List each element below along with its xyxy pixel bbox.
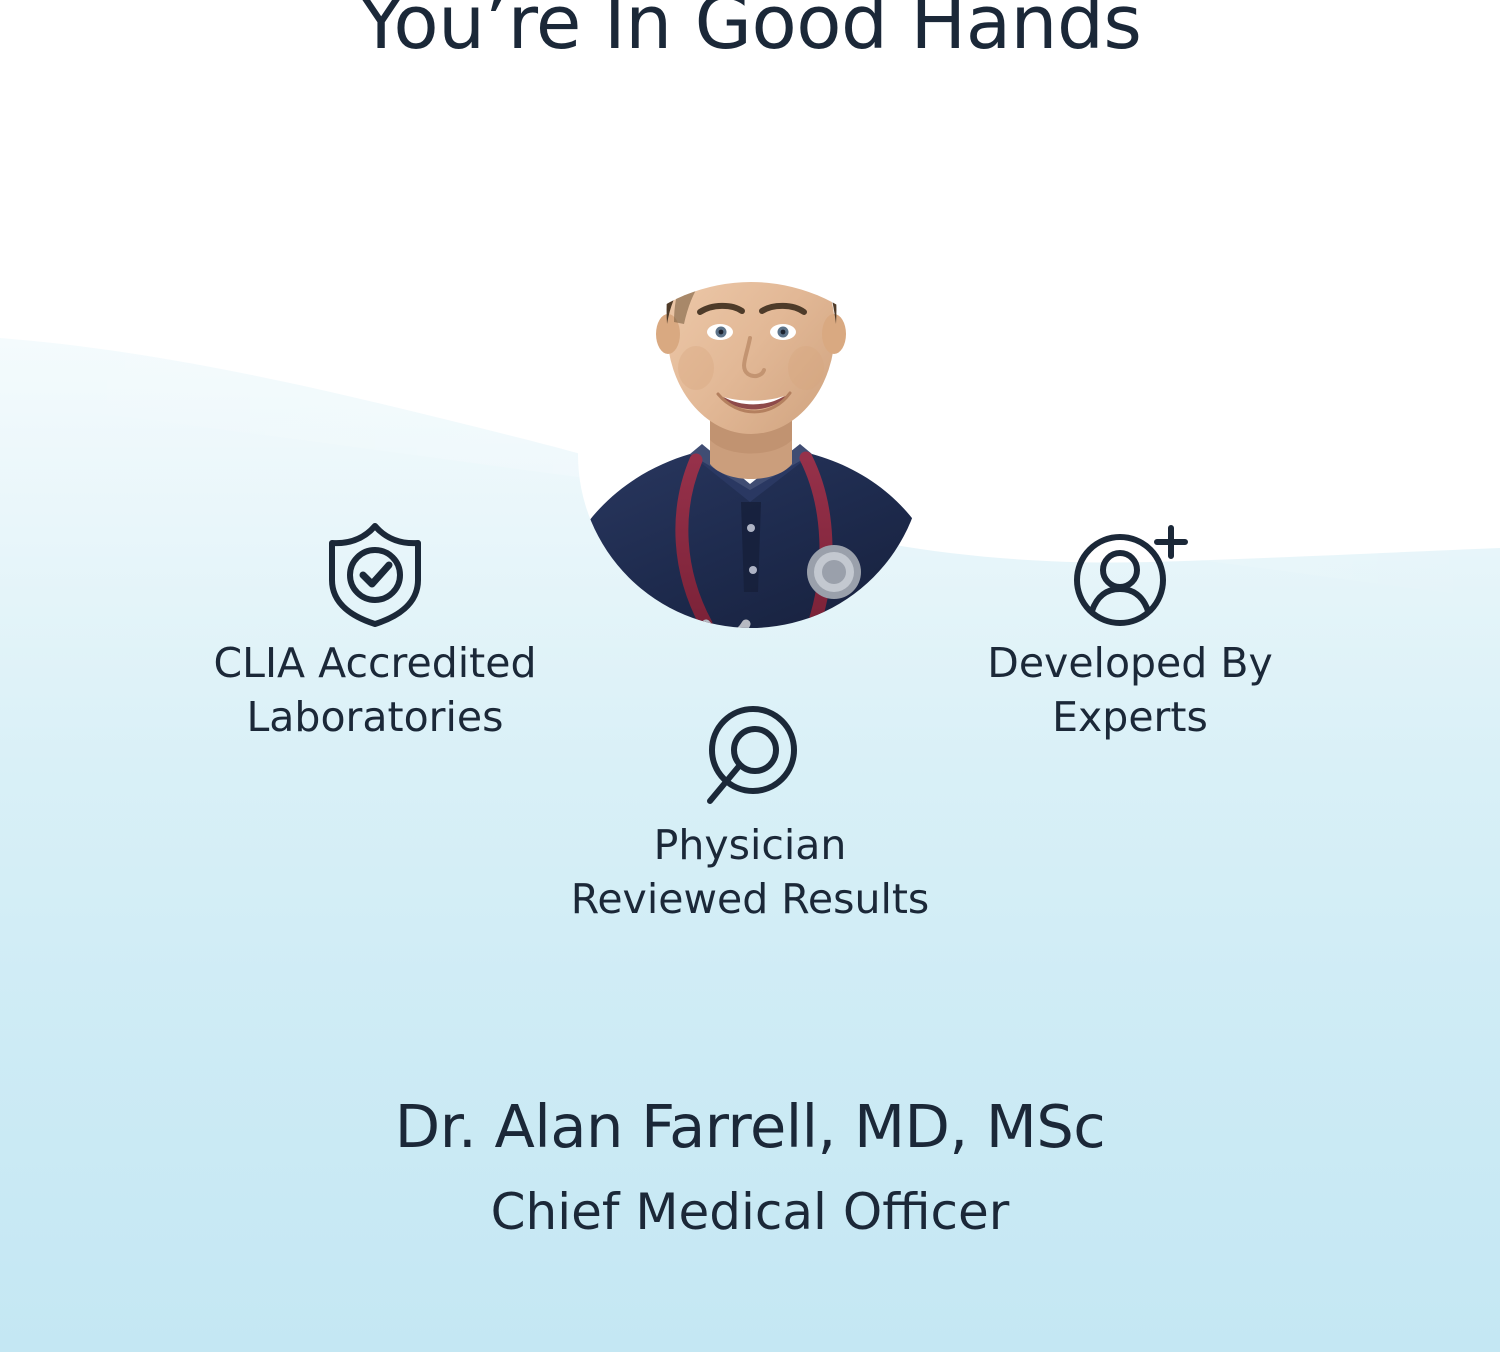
shield-check-icon <box>321 518 429 630</box>
doctor-role: Chief Medical Officer <box>0 1182 1500 1242</box>
feature-label: Physician Reviewed Results <box>510 818 990 926</box>
user-plus-circle-icon <box>1070 518 1190 630</box>
feature-physician-reviewed: Physician Reviewed Results <box>510 700 990 926</box>
page-title: You’re In Good Hands <box>0 0 1500 60</box>
good-hands-panel: You’re In Good Hands <box>0 0 1500 1352</box>
doctor-portrait <box>578 172 924 628</box>
doctor-name: Dr. Alan Farrell, MD, MSc <box>0 1092 1500 1162</box>
icon-box <box>125 518 625 630</box>
doctor-credit: Dr. Alan Farrell, MD, MSc Chief Medical … <box>0 1092 1500 1242</box>
avatar <box>578 172 924 628</box>
icon-box <box>880 518 1380 630</box>
magnifier-circle-icon <box>696 700 804 812</box>
icon-box <box>510 700 990 812</box>
